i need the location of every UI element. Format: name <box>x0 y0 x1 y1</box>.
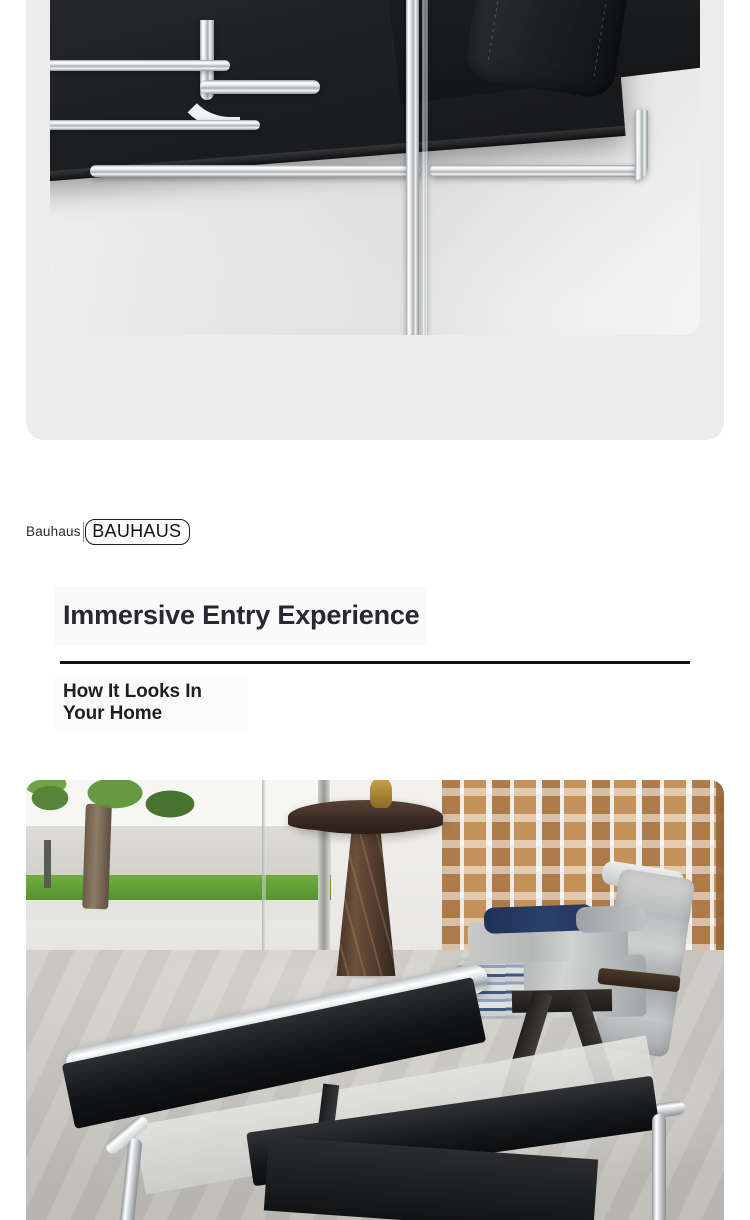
chrome-rail-lower <box>50 120 260 130</box>
lounge-chair-gray-bolster <box>576 905 647 933</box>
room-scene-photo[interactable] <box>26 780 724 1220</box>
outdoor-kerb <box>26 900 331 920</box>
marble-table-top <box>288 800 443 834</box>
headline-highlight-box: Immersive Entry Experience <box>55 586 427 646</box>
foreground-wassily-chair <box>26 1018 724 1220</box>
brand-divider-caret <box>83 522 85 542</box>
hero-photo-scene <box>50 0 700 335</box>
chrome-rail-upper <box>50 60 230 71</box>
section-heading-line-2: Your Home <box>63 703 162 724</box>
chrome-right-curve <box>635 110 648 180</box>
product-page: Bauhaus BAUHAUS Immersive Entry Experien… <box>0 0 750 1220</box>
tree-canopy <box>26 780 240 846</box>
room-scene-content <box>26 780 724 1220</box>
brand-pill-badge[interactable]: BAUHAUS <box>85 519 190 545</box>
chrome-bottom-rail-right <box>430 165 640 177</box>
section-heading: How It Looks InYour Home <box>55 681 202 726</box>
chrome-center-post-highlight <box>422 0 428 335</box>
brand-small-label: Bauhaus <box>26 525 83 539</box>
section-heading-line-1: How It Looks In <box>63 681 202 702</box>
foreground-chrome-tube-right <box>652 1114 666 1220</box>
brass-vase <box>370 780 392 808</box>
foreground-chrome-tube-left <box>119 1138 142 1220</box>
hero-product-photo[interactable] <box>50 0 700 335</box>
page-title: Immersive Entry Experience <box>55 601 420 631</box>
brand-row[interactable]: Bauhaus BAUHAUS <box>26 519 190 545</box>
foreground-leather-seat <box>264 1137 598 1220</box>
subhead-highlight-box: How It Looks InYour Home <box>55 676 248 730</box>
chrome-arc-horizontal <box>200 80 320 94</box>
window-opening <box>26 780 331 966</box>
hero-card <box>26 0 724 440</box>
chrome-center-post <box>406 0 419 335</box>
glass-panel-edge <box>262 780 266 966</box>
outdoor-post <box>44 840 51 888</box>
section-divider <box>60 661 690 664</box>
chrome-bottom-rail-left <box>90 165 420 177</box>
